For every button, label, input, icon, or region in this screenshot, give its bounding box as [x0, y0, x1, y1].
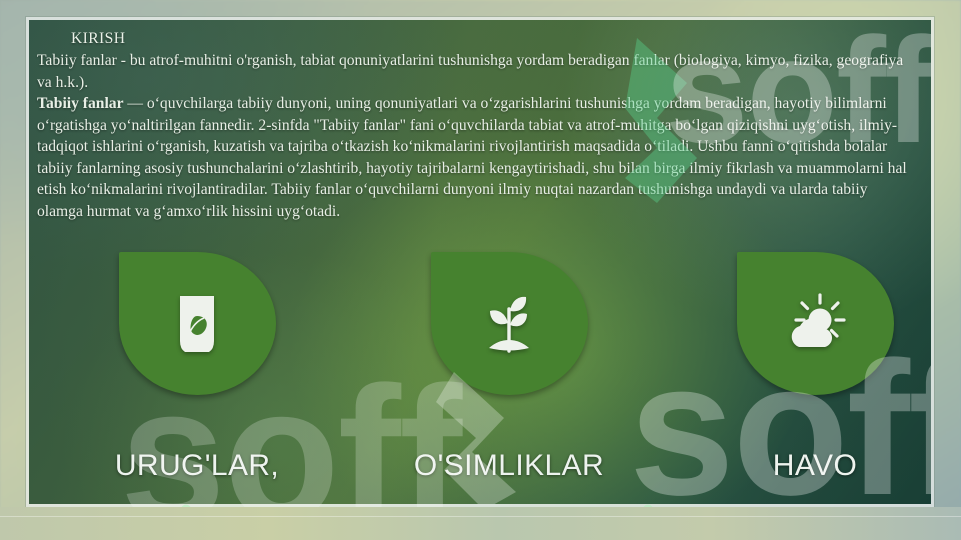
sun-cloud-icon	[779, 291, 851, 357]
seedling-icon	[476, 289, 542, 359]
slide-text-block: KIRISH Tabiiy fanlar - bu atrof-muhitni …	[29, 24, 923, 222]
card-shape	[737, 252, 894, 395]
card-label: HAVO	[665, 449, 934, 483]
paragraph-definition-body: — o‘quvchilarga tabiiy dunyoni, uning qo…	[37, 95, 907, 220]
card-havo[interactable]: HAVO	[665, 252, 934, 483]
paragraph-intro: Tabiiy fanlar - bu atrof-muhitni o'rgani…	[37, 50, 909, 93]
paragraph-bold-lead: Tabiiy fanlar	[37, 95, 124, 112]
page-title: KIRISH	[37, 28, 909, 50]
paragraph-definition: Tabiiy fanlar — o‘quvchilarga tabiiy dun…	[37, 93, 909, 222]
screenshot-page: KIRISH Tabiiy fanlar - bu atrof-muhitni …	[0, 0, 961, 540]
page-bottom-strip	[0, 507, 961, 540]
